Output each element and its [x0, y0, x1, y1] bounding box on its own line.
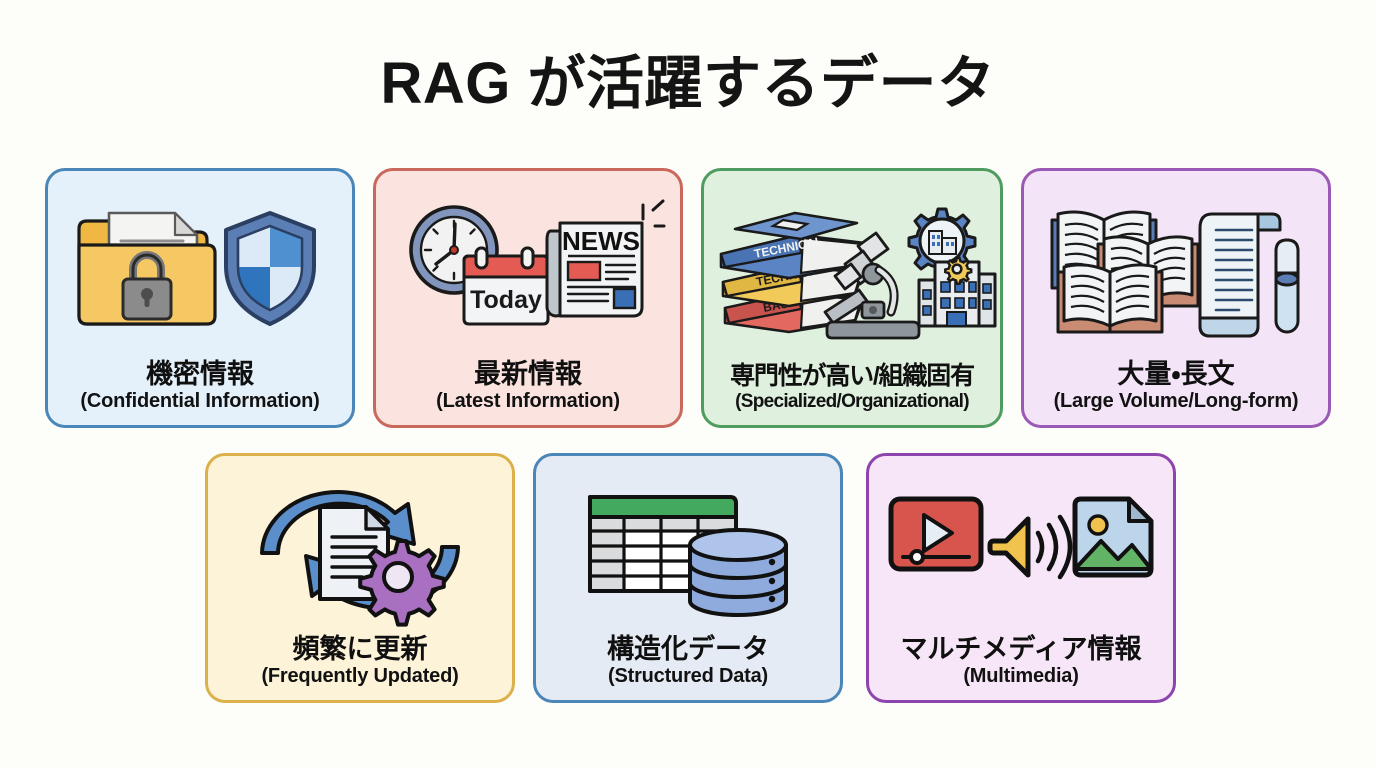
- card-multimedia[interactable]: マルチメディア情報 (Multimedia): [866, 453, 1176, 703]
- card-specialized-art: BASICS TECHNICAL TECHNICAL: [704, 171, 1000, 362]
- card-specialized[interactable]: BASICS TECHNICAL TECHNICAL: [701, 168, 1003, 428]
- card-frequently-updated-labels: 頻繁に更新 (Frequently Updated): [208, 634, 512, 700]
- card-confidential[interactable]: 機密情報 (Confidential Information): [45, 168, 355, 428]
- card-structured-data-labels: 構造化データ (Structured Data): [536, 634, 840, 700]
- card-label-en: (Large Volume/Long-form): [1028, 390, 1324, 413]
- card-structured-data[interactable]: 構造化データ (Structured Data): [533, 453, 843, 703]
- image-file-icon: [1075, 499, 1151, 575]
- card-confidential-art: [48, 171, 352, 359]
- card-large-volume-art: [1024, 171, 1328, 359]
- card-large-volume-labels: 大量・長文 (Large Volume/Long-form): [1024, 359, 1328, 425]
- card-label-ja: マルチメディア情報: [873, 634, 1169, 664]
- card-label-ja: 専門性が高い/組織固有: [708, 362, 996, 390]
- card-latest-labels: 最新情報 (Latest Information): [376, 359, 680, 425]
- card-label-en: (Latest Information): [380, 390, 676, 413]
- calendar-today-text: Today: [470, 286, 542, 314]
- card-label-en: (Frequently Updated): [212, 665, 508, 688]
- shield-icon: [226, 213, 314, 324]
- card-label-ja: 構造化データ: [540, 634, 836, 664]
- card-specialized-labels: 専門性が高い/組織固有 (Specialized/Organizational): [704, 362, 1000, 425]
- card-latest[interactable]: Today NEWS: [373, 168, 683, 428]
- card-label-ja: 最新情報: [380, 359, 676, 389]
- infographic-canvas: RAG が活躍するデータ: [0, 0, 1376, 768]
- page-title: RAG が活躍するデータ: [0, 54, 1376, 115]
- newspaper-news-icon: NEWS: [547, 201, 664, 316]
- card-label-ja: 機密情報: [52, 359, 348, 389]
- card-frequently-updated[interactable]: 頻繁に更新 (Frequently Updated): [205, 453, 515, 703]
- speaker-icon: [990, 517, 1070, 577]
- card-structured-data-art: [536, 456, 840, 634]
- card-label-en: (Specialized/Organizational): [708, 391, 996, 413]
- calendar-today-icon: Today: [464, 248, 548, 324]
- card-latest-art: Today NEWS: [376, 171, 680, 359]
- gear-icon: [360, 541, 444, 625]
- database-icon: [690, 530, 786, 615]
- newspaper-masthead-text: NEWS: [562, 226, 640, 256]
- card-label-ja: 頻繁に更新: [212, 634, 508, 664]
- card-frequently-updated-art: [208, 456, 512, 634]
- card-label-en: (Structured Data): [540, 665, 836, 688]
- card-confidential-labels: 機密情報 (Confidential Information): [48, 359, 352, 425]
- card-label-ja: 大量・長文: [1028, 359, 1324, 389]
- card-multimedia-labels: マルチメディア情報 (Multimedia): [869, 634, 1173, 700]
- card-label-en: (Confidential Information): [52, 390, 348, 413]
- card-label-en: (Multimedia): [873, 665, 1169, 688]
- video-player-icon: [891, 499, 981, 569]
- scroll-icon: [1200, 214, 1298, 336]
- open-books-icon: [1052, 212, 1198, 332]
- gear-building-icon: [909, 209, 995, 326]
- card-large-volume[interactable]: 大量・長文 (Large Volume/Long-form): [1021, 168, 1331, 428]
- card-multimedia-art: [869, 456, 1173, 634]
